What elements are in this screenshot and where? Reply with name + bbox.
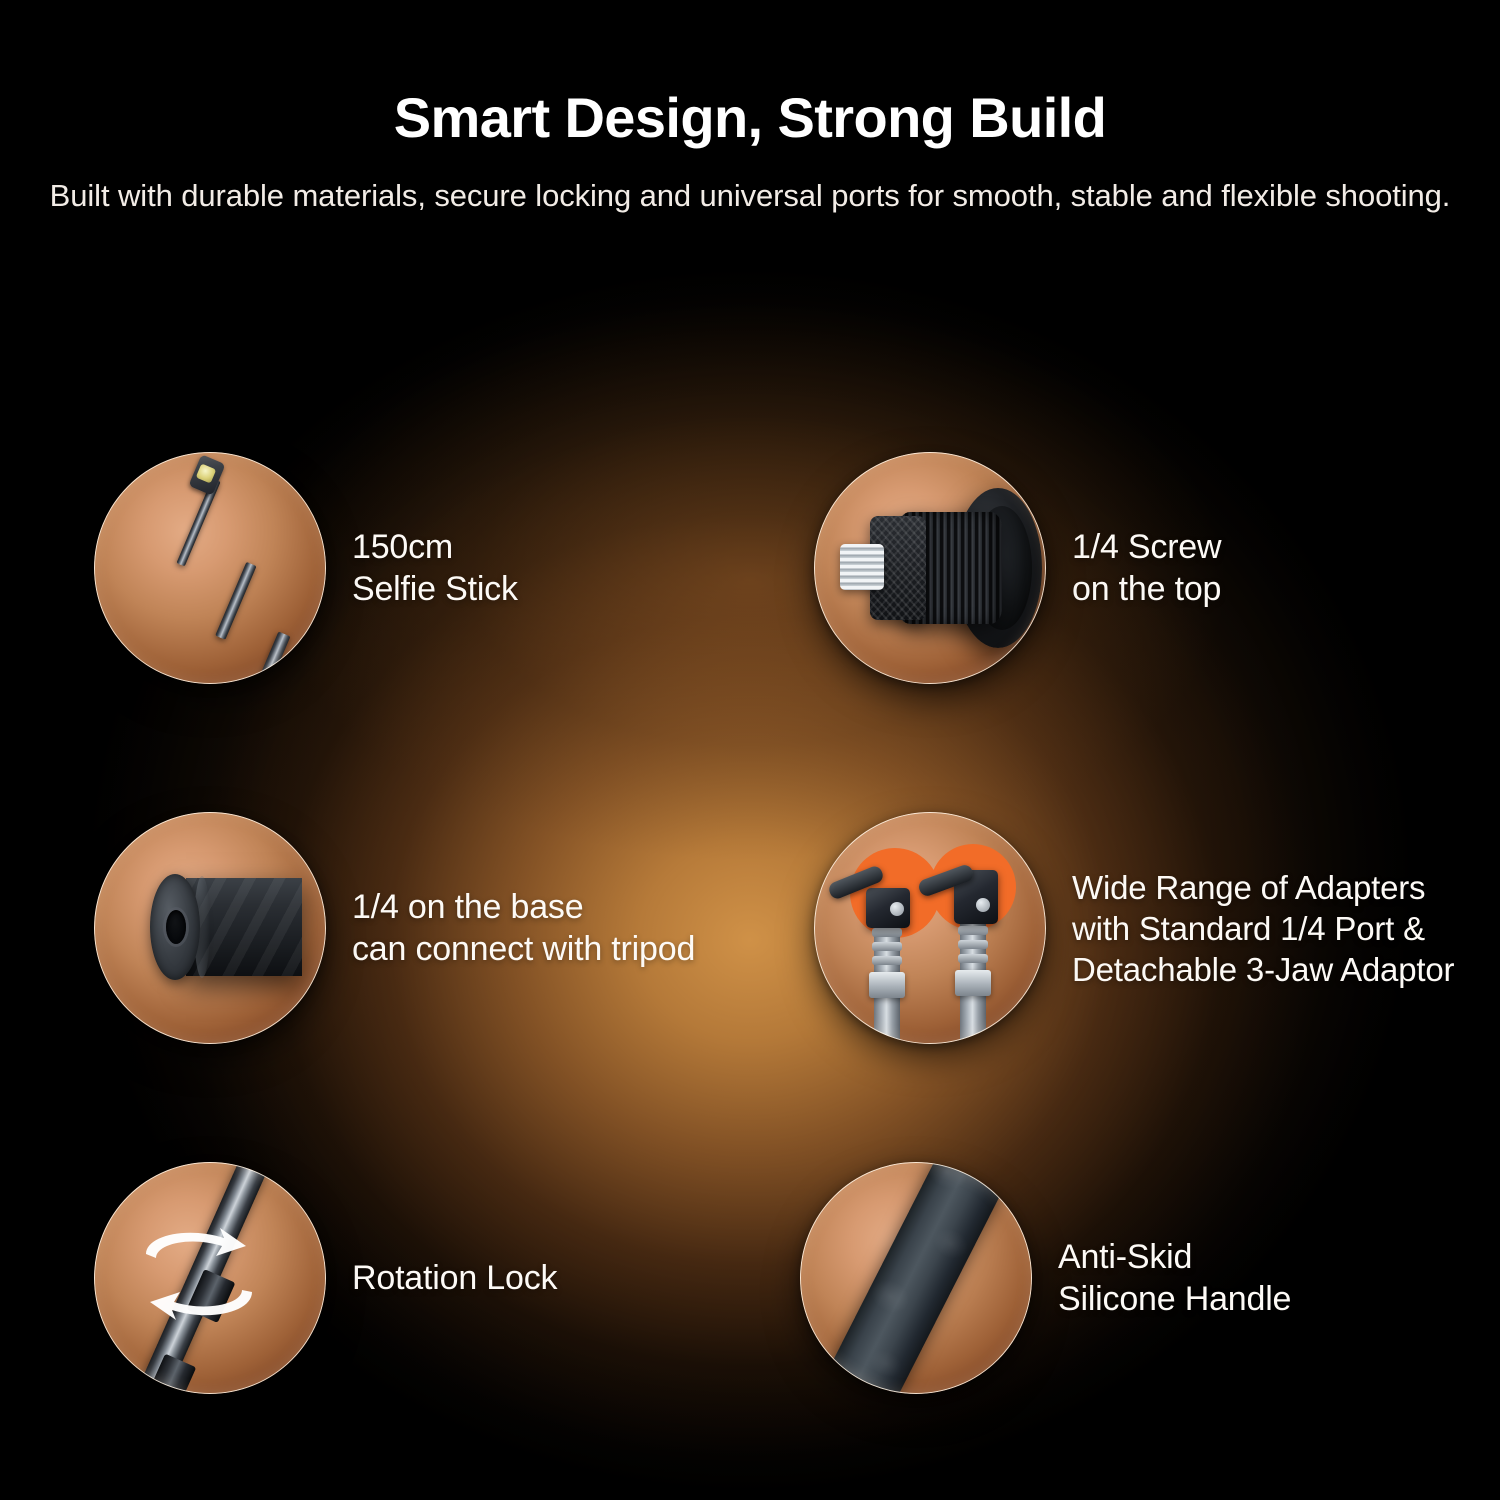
rotating-pole-arrows-icon <box>94 1162 326 1394</box>
feature-caption: Wide Range of Adapters with Standard 1/4… <box>1072 867 1454 990</box>
feature-quarter-screw-top: 1/4 Screw on the top <box>814 452 1221 684</box>
feature-image-bubble <box>94 1162 326 1394</box>
feature-wide-range-adapters: Wide Range of Adapters with Standard 1/4… <box>814 812 1454 1044</box>
gopro-adapters-pair-icon <box>814 812 1046 1044</box>
product-feature-poster: Smart Design, Strong Build Built with du… <box>0 0 1500 1500</box>
feature-caption: 150cm Selfie Stick <box>352 526 518 610</box>
base-thread-port-icon <box>94 812 326 1044</box>
feature-anti-skid-handle: Anti-Skid Silicone Handle <box>800 1162 1291 1394</box>
feature-image-bubble <box>800 1162 1032 1394</box>
feature-caption: 1/4 Screw on the top <box>1072 526 1221 610</box>
feature-selfie-stick-length: 150cm Selfie Stick <box>94 452 518 684</box>
feature-image-bubble <box>814 812 1046 1044</box>
quarter-inch-screw-icon <box>814 452 1046 684</box>
feature-caption: Anti-Skid Silicone Handle <box>1058 1236 1291 1320</box>
feature-image-bubble <box>94 812 326 1044</box>
page-title: Smart Design, Strong Build <box>0 88 1500 148</box>
selfie-stick-extended-icon <box>94 452 326 684</box>
feature-image-bubble <box>814 452 1046 684</box>
rotation-arrow-icon <box>134 1218 264 1338</box>
feature-caption: 1/4 on the base can connect with tripod <box>352 886 695 970</box>
header: Smart Design, Strong Build Built with du… <box>0 0 1500 218</box>
feature-quarter-base-tripod: 1/4 on the base can connect with tripod <box>94 812 695 1044</box>
feature-rotation-lock: Rotation Lock <box>94 1162 557 1394</box>
feature-image-bubble <box>94 452 326 684</box>
page-subtitle: Built with durable materials, secure loc… <box>0 174 1500 218</box>
silicone-grip-icon <box>800 1162 1032 1394</box>
feature-caption: Rotation Lock <box>352 1257 557 1299</box>
